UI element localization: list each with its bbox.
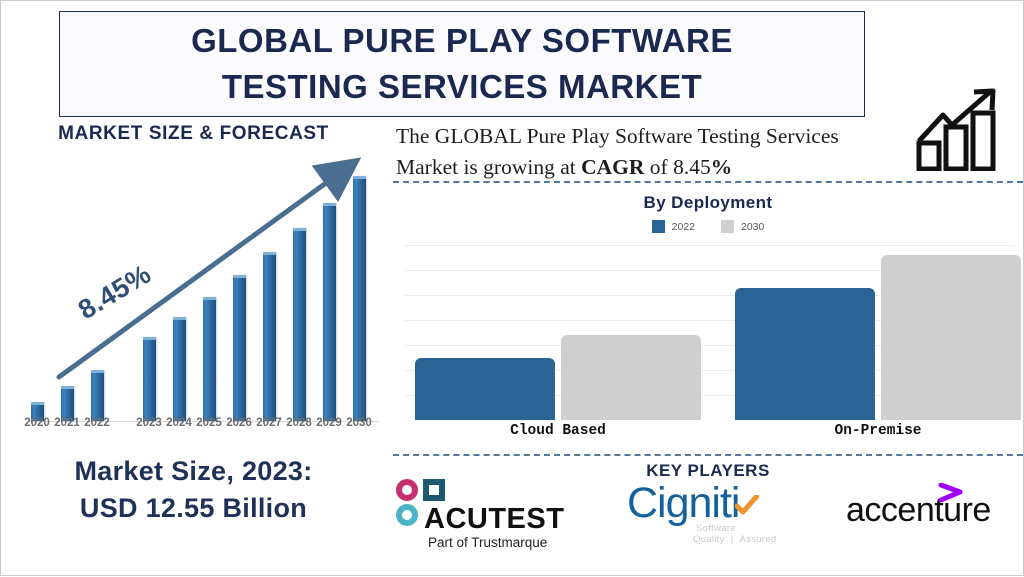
legend-swatch	[652, 220, 665, 233]
cigniti-wordmark: Cigniti	[627, 477, 807, 529]
acutest-teal-circle-icon	[396, 504, 418, 526]
infographic-page: GLOBAL PURE PLAY SOFTWARE TESTING SERVIC…	[0, 0, 1024, 576]
forecast-year-labels: 2020202120222023202420252026202720282029…	[19, 417, 379, 435]
accenture-text: accenture	[846, 491, 991, 529]
forecast-year-label: 2028	[286, 417, 312, 429]
acutest-wordmark: ACUTEST	[424, 503, 564, 536]
deployment-chart-title: By Deployment	[391, 193, 1024, 213]
forecast-year-label: 2025	[196, 417, 222, 429]
market-size-line-1: Market Size, 2023:	[1, 453, 386, 490]
forecast-bar	[293, 228, 306, 421]
deployment-bar	[735, 288, 875, 420]
key-players-logos: ACUTEST Part of Trustmarque Cigniti Soft…	[391, 469, 1024, 574]
accenture-chevron-icon	[938, 473, 964, 493]
legend-label: 2030	[741, 221, 764, 233]
summary-text-cagr: CAGR	[581, 155, 644, 179]
acutest-teal-square-icon	[423, 479, 445, 501]
accenture-wordmark: accenture	[846, 491, 1024, 530]
right-panel: The GLOBAL Pure Play Software Testing Se…	[391, 117, 1024, 577]
divider-top	[393, 181, 1023, 183]
deployment-bar	[561, 335, 701, 420]
forecast-bar	[61, 386, 74, 421]
market-forecast-panel: MARKET SIZE & FORECAST 8.45% 20202021202…	[1, 117, 386, 577]
summary-text-percent: %	[711, 155, 733, 179]
page-title-line-2: TESTING SERVICES MARKET	[222, 64, 702, 110]
deployment-category-label: Cloud Based	[510, 423, 606, 439]
forecast-year-label: 2021	[54, 417, 80, 429]
forecast-year-label: 2030	[346, 417, 372, 429]
forecast-year-label: 2024	[166, 417, 192, 429]
growth-chart-icon	[911, 85, 1007, 171]
logo-accenture[interactable]: accenture	[846, 491, 1024, 530]
market-summary-text: The GLOBAL Pure Play Software Testing Se…	[396, 121, 901, 183]
forecast-year-label: 2022	[84, 417, 110, 429]
market-forecast-heading: MARKET SIZE & FORECAST	[1, 123, 386, 145]
forecast-bar	[353, 176, 366, 421]
forecast-bar	[143, 337, 156, 421]
legend-swatch	[721, 220, 734, 233]
forecast-year-label: 2027	[256, 417, 282, 429]
forecast-year-label: 2026	[226, 417, 252, 429]
market-size-line-2: USD 12.55 Billion	[1, 490, 386, 527]
cigniti-check-icon	[735, 475, 759, 495]
forecast-bar	[203, 297, 216, 421]
deployment-bar-chart	[405, 245, 1015, 420]
deployment-category-label: On-Premise	[834, 423, 921, 439]
forecast-year-label: 2023	[136, 417, 162, 429]
cigniti-text: Cigniti	[627, 479, 740, 527]
deployment-bar	[415, 358, 555, 420]
acutest-tagline: Part of Trustmarque	[428, 535, 547, 550]
forecast-bar	[323, 203, 336, 421]
cigniti-tagline-b: Assured	[739, 534, 776, 545]
logo-acutest[interactable]: ACUTEST Part of Trustmarque	[396, 479, 576, 527]
page-title-line-1: GLOBAL PURE PLAY SOFTWARE	[191, 18, 733, 64]
market-size-callout: Market Size, 2023: USD 12.55 Billion	[1, 453, 386, 527]
legend-item[interactable]: 2022	[652, 220, 695, 233]
forecast-bar-chart	[19, 157, 379, 422]
legend-item[interactable]: 2030	[721, 220, 764, 233]
forecast-year-label: 2020	[24, 417, 50, 429]
deployment-bar	[881, 255, 1021, 420]
forecast-year-label: 2029	[316, 417, 342, 429]
title-box: GLOBAL PURE PLAY SOFTWARE TESTING SERVIC…	[59, 11, 865, 117]
gridline	[405, 245, 1015, 246]
forecast-bar	[173, 317, 186, 421]
acutest-pink-circle-icon	[396, 479, 418, 501]
legend-label: 2022	[672, 221, 695, 233]
deployment-legend: 20222030	[391, 220, 1024, 233]
forecast-bar	[233, 275, 246, 421]
forecast-bar	[263, 252, 276, 421]
divider-bottom	[393, 454, 1023, 456]
forecast-bar	[91, 370, 104, 421]
summary-text-mid: of 8.45	[644, 155, 710, 179]
logo-cigniti[interactable]: Cigniti Software Quality|Assured	[627, 477, 807, 545]
